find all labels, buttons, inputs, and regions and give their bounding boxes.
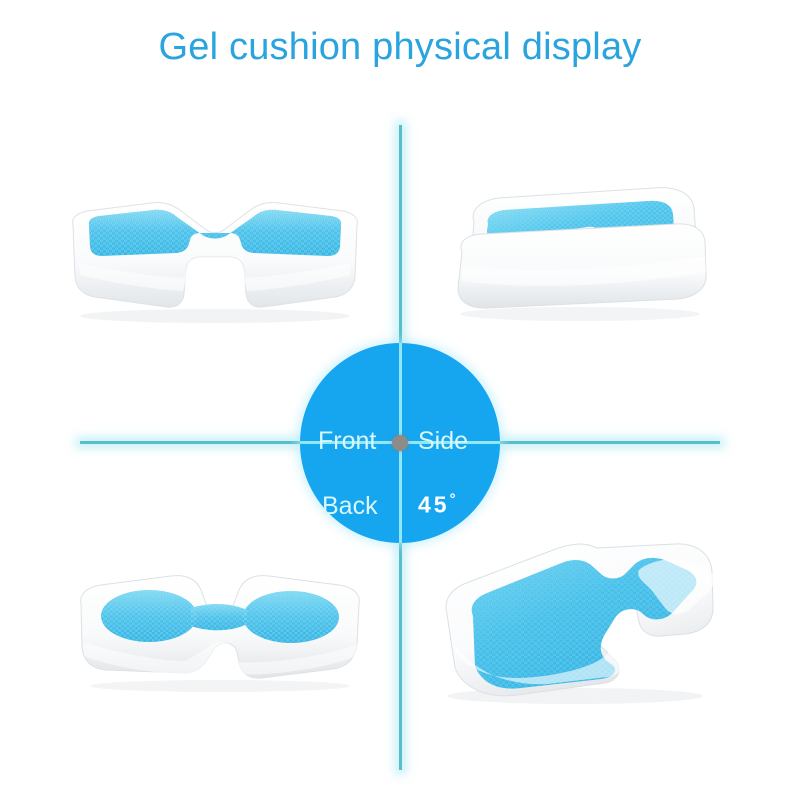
product-image-back-view [65, 560, 375, 700]
product-image-45-degree-view [425, 530, 720, 710]
product-image-side-view [440, 180, 720, 330]
product-image-front-view [55, 185, 375, 330]
quadrant-label-front[interactable]: Front [318, 427, 376, 456]
page-title: Gel cushion physical display [0, 26, 800, 69]
degree-symbol-icon: ° [450, 491, 456, 508]
quadrant-label-side[interactable]: Side [418, 427, 468, 456]
product-display-page: Gel cushion physical display [0, 0, 800, 800]
quadrant-label-45-degree[interactable]: 45° [418, 491, 456, 519]
quadrant-label-back[interactable]: Back [322, 492, 378, 521]
center-pivot-dot [392, 435, 408, 451]
angle-value: 45 [418, 492, 450, 518]
